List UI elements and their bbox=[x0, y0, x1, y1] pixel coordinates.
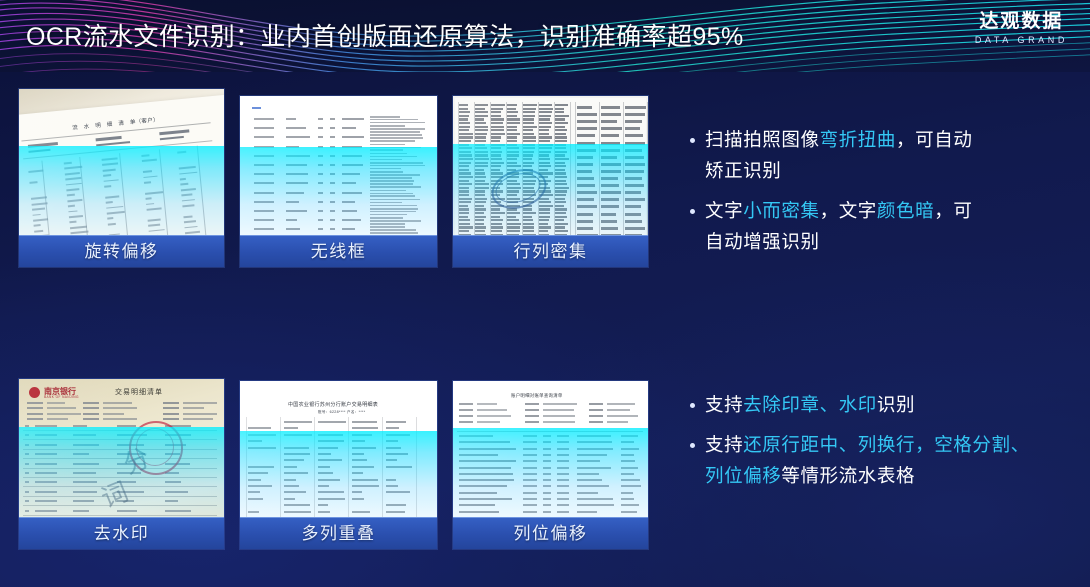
doc-texture-line bbox=[25, 434, 29, 436]
doc-texture-line bbox=[459, 498, 512, 500]
doc-texture-line bbox=[523, 151, 534, 153]
sample-card-column-shift[interactable]: 账户明细对账单查询清单 列位偏移 bbox=[453, 381, 648, 549]
doc-texture-line bbox=[601, 191, 621, 194]
doc-texture-line bbox=[491, 104, 505, 106]
card-caption: 列位偏移 bbox=[453, 517, 648, 549]
doc-texture-line bbox=[35, 425, 57, 427]
doc-texture-line bbox=[35, 500, 57, 502]
sample-card-multi-column-overlap[interactable]: 中国农业银行苏州分行账户交易明细表 账号：6228**** 户名：**** 多列… bbox=[240, 381, 437, 549]
doc-texture-line bbox=[491, 226, 503, 228]
doc-texture-line bbox=[286, 228, 300, 230]
doc-texture-line bbox=[318, 173, 323, 175]
doc-texture-line bbox=[370, 153, 407, 155]
doc-texture-line bbox=[145, 191, 163, 195]
doc-texture-line bbox=[286, 136, 310, 138]
doc-texture-line bbox=[254, 118, 274, 120]
doc-texture-line bbox=[475, 108, 485, 110]
doc-texture-line bbox=[181, 194, 193, 197]
doc-texture-line bbox=[370, 116, 400, 118]
doc-texture-line bbox=[577, 184, 595, 187]
doc-texture-line bbox=[248, 466, 274, 468]
doc-texture-line bbox=[254, 210, 274, 212]
doc-texture-line bbox=[23, 468, 217, 469]
doc-texture-line bbox=[577, 142, 595, 145]
doc-texture-line bbox=[370, 174, 420, 176]
bullet-text: 自动增强识别 bbox=[705, 231, 820, 252]
card-caption: 行列密集 bbox=[453, 235, 648, 267]
doc-texture-line bbox=[539, 118, 550, 120]
doc-texture-line bbox=[342, 219, 361, 221]
doc-texture-line bbox=[370, 226, 405, 228]
doc-texture-line bbox=[183, 215, 192, 218]
doc-texture-line bbox=[145, 197, 151, 199]
doc-texture-line bbox=[601, 177, 618, 180]
doc-texture-line bbox=[475, 162, 488, 164]
doc-texture-line bbox=[475, 226, 486, 228]
doc-texture-line bbox=[318, 511, 330, 513]
doc-texture-line bbox=[475, 129, 488, 131]
doc-texture-line bbox=[475, 158, 489, 160]
doc-texture-line bbox=[507, 104, 517, 106]
sample-card-borderless[interactable]: 无线框 bbox=[240, 96, 437, 267]
doc-texture-line bbox=[342, 164, 363, 166]
doc-texture-line bbox=[318, 182, 323, 184]
doc-texture-line bbox=[555, 172, 566, 174]
doc-texture-line bbox=[330, 146, 335, 148]
doc-texture-line bbox=[27, 418, 43, 420]
doc-texture-line bbox=[370, 211, 416, 213]
doc-texture-line bbox=[183, 402, 217, 404]
doc-texture-line bbox=[32, 208, 45, 211]
doc-texture-line bbox=[459, 165, 469, 167]
doc-texture-line bbox=[539, 169, 548, 171]
doc-texture-line bbox=[577, 205, 597, 208]
doc-texture-line bbox=[73, 453, 89, 455]
doc-texture-line bbox=[523, 230, 534, 232]
doc-texture-line bbox=[318, 491, 344, 493]
doc-texture-line bbox=[318, 219, 323, 221]
doc-texture-line bbox=[83, 413, 99, 415]
bullet-text: 等情形流水表格 bbox=[781, 465, 915, 486]
doc-texture-line bbox=[180, 183, 188, 186]
doc-texture-line bbox=[475, 180, 485, 182]
doc-texture-line bbox=[621, 441, 634, 443]
doc-texture-line bbox=[47, 418, 68, 420]
doc-texture-line bbox=[557, 479, 569, 481]
doc-texture-line bbox=[318, 155, 323, 157]
bullet-highlight-text: 颜色暗 bbox=[877, 200, 934, 221]
doc-texture-line bbox=[477, 415, 511, 417]
doc-texture-line bbox=[625, 163, 645, 166]
doc-texture-line bbox=[370, 128, 425, 130]
doc-texture-line bbox=[523, 216, 532, 218]
doc-texture-line bbox=[318, 164, 323, 166]
doc-texture-line bbox=[370, 134, 422, 136]
doc-texture-line bbox=[284, 447, 309, 449]
doc-texture-line bbox=[330, 219, 335, 221]
doc-texture-line bbox=[555, 144, 566, 146]
doc-texture-line bbox=[370, 190, 406, 192]
bullet-text: ，可 bbox=[934, 200, 972, 221]
doc-texture-line bbox=[459, 198, 472, 200]
doc-texture-line bbox=[23, 515, 217, 516]
doc-texture-line bbox=[318, 466, 330, 468]
doc-texture-line bbox=[555, 219, 564, 221]
doc-texture-line bbox=[386, 453, 408, 455]
doc-texture-line bbox=[491, 133, 505, 135]
slide-header: OCR流水文件识别：业内首创版面还原算法，识别准确率超95% 达观数据 DATA… bbox=[0, 0, 1090, 72]
doc-texture-line bbox=[342, 210, 357, 212]
doc-texture-line bbox=[386, 434, 410, 436]
doc-texture-line bbox=[475, 176, 486, 178]
doc-texture-line bbox=[318, 421, 346, 423]
doc-texture-line bbox=[330, 192, 335, 194]
doc-texture-line bbox=[555, 223, 568, 225]
doc-texture-line bbox=[248, 434, 276, 436]
doc-texture-line bbox=[491, 162, 504, 164]
doc-texture-line bbox=[491, 108, 503, 110]
doc-texture-line bbox=[557, 441, 569, 443]
doc-texture-line bbox=[459, 223, 470, 225]
doc-texture-line bbox=[523, 118, 534, 120]
bullet-highlight-text: 弯折扭曲 bbox=[820, 129, 896, 150]
doc-texture-line bbox=[475, 165, 488, 167]
doc-texture-line bbox=[477, 421, 500, 423]
doc-texture-line bbox=[555, 176, 567, 178]
doc-texture-line bbox=[543, 409, 574, 411]
doc-texture-line bbox=[589, 409, 603, 411]
doc-texture-line bbox=[459, 176, 473, 178]
doc-texture-line bbox=[330, 118, 335, 120]
doc-texture-line bbox=[254, 127, 274, 129]
doc-texture-line bbox=[370, 140, 415, 142]
bullet-text: 矫正识别 bbox=[705, 160, 781, 181]
doc-texture-line bbox=[386, 479, 396, 481]
doc-texture-line bbox=[523, 467, 537, 469]
doc-texture-line bbox=[539, 136, 552, 138]
doc-texture-line bbox=[27, 407, 43, 409]
doc-texture-line bbox=[25, 472, 29, 474]
doc-texture-line bbox=[523, 104, 537, 106]
doc-texture-line bbox=[35, 491, 57, 493]
doc-texture-line bbox=[330, 173, 335, 175]
doc-texture-line bbox=[35, 444, 57, 446]
doc-texture-line bbox=[625, 106, 646, 109]
doc-texture-line bbox=[621, 460, 635, 462]
doc-texture-line bbox=[370, 232, 418, 234]
doc-texture-line bbox=[491, 172, 503, 174]
doc-texture-line bbox=[507, 129, 517, 131]
doc-texture-line bbox=[318, 447, 338, 449]
doc-texture-line bbox=[539, 147, 552, 149]
doc-texture-line bbox=[601, 170, 621, 173]
doc-texture-line bbox=[284, 498, 295, 500]
doc-texture-line bbox=[475, 205, 484, 207]
doc-texture-line bbox=[607, 403, 635, 405]
doc-texture-line bbox=[254, 146, 274, 148]
doc-texture-line bbox=[286, 164, 307, 166]
doc-texture-line bbox=[248, 491, 260, 493]
doc-texture-line bbox=[386, 427, 399, 429]
doc-texture-line bbox=[284, 479, 296, 481]
doc-texture-line bbox=[507, 165, 521, 167]
doc-texture-line bbox=[330, 127, 335, 129]
doc-texture-line bbox=[25, 463, 29, 465]
doc-texture-line bbox=[33, 214, 41, 217]
doc-texture-line bbox=[523, 504, 537, 506]
doc-texture-line bbox=[523, 111, 535, 113]
doc-texture-line bbox=[284, 511, 311, 513]
feature-bullet: 文字小而密集，文字颜色暗，可自动增强识别 bbox=[688, 195, 1060, 257]
logo-chinese-name: 达观数据 bbox=[975, 11, 1068, 33]
doc-texture-line bbox=[475, 212, 484, 214]
doc-texture-line bbox=[555, 133, 566, 135]
doc-texture-line bbox=[621, 448, 639, 450]
doc-texture-line bbox=[254, 228, 274, 230]
doc-texture-line bbox=[254, 182, 274, 184]
sample-card-dense-grid[interactable]: 行列密集 bbox=[453, 96, 648, 267]
doc-texture-line bbox=[557, 485, 569, 487]
doc-texture-line bbox=[459, 118, 468, 120]
doc-texture-line bbox=[459, 403, 473, 405]
doc-texture-line bbox=[318, 201, 323, 203]
doc-texture-line bbox=[523, 136, 536, 138]
doc-texture-line bbox=[491, 140, 500, 142]
doc-texture-line bbox=[254, 164, 274, 166]
sample-card-rotation-offset[interactable]: 流 水 明 细 清 单（客户） 旋转偏移 bbox=[19, 89, 224, 267]
doc-texture-line bbox=[555, 205, 564, 207]
bullet-line-2: 矫正识别 bbox=[705, 155, 1060, 186]
doc-texture-line bbox=[370, 159, 402, 161]
doc-texture-line bbox=[286, 182, 308, 184]
doc-texture-line bbox=[183, 407, 204, 409]
doc-texture-line bbox=[523, 122, 534, 124]
doc-texture-line bbox=[555, 169, 565, 171]
doc-texture-line bbox=[523, 454, 537, 456]
doc-texture-line bbox=[342, 201, 355, 203]
doc-texture-line bbox=[577, 454, 607, 456]
doc-texture-line bbox=[352, 453, 364, 455]
doc-texture-line bbox=[103, 418, 137, 420]
doc-texture-line bbox=[491, 122, 503, 124]
doc-texture-line bbox=[34, 224, 41, 227]
doc-texture-line bbox=[507, 126, 517, 128]
doc-texture-line bbox=[507, 162, 517, 164]
doc-texture-line bbox=[491, 208, 500, 210]
doc-texture-line bbox=[491, 154, 501, 156]
doc-texture-line bbox=[577, 156, 593, 159]
doc-texture-line bbox=[342, 136, 364, 138]
doc-texture-line bbox=[475, 201, 486, 203]
doc-texture-line bbox=[184, 226, 197, 229]
doc-texture-line bbox=[539, 129, 549, 131]
doc-texture-line bbox=[25, 425, 29, 427]
doc-texture-line bbox=[625, 156, 644, 159]
sample-card-remove-watermark[interactable]: 南京银行 BANK OF NANJING 交易明细清单 分 词 去水印 bbox=[19, 379, 224, 549]
feature-list-top: 扫描拍照图像弯折扭曲，可自动矫正识别文字小而密集，文字颜色暗，可自动增强识别 bbox=[688, 124, 1060, 266]
feature-bullet: 支持还原行距中、列换行，空格分割、列位偏移等情形流水表格 bbox=[688, 429, 1066, 491]
doc-texture-line bbox=[248, 447, 276, 449]
doc-texture-line bbox=[507, 158, 517, 160]
bullet-text: ，文字 bbox=[820, 200, 877, 221]
doc-texture-line bbox=[555, 194, 566, 196]
doc-texture-line bbox=[621, 467, 638, 469]
doc-texture-line bbox=[577, 120, 597, 123]
doc-texture-line bbox=[459, 441, 510, 443]
doc-texture-line bbox=[286, 155, 310, 157]
doc-texture-line bbox=[607, 415, 638, 417]
doc-texture-line bbox=[525, 409, 539, 411]
doc-texture-line bbox=[523, 208, 532, 210]
doc-texture-line bbox=[459, 454, 498, 456]
doc-texture-line bbox=[555, 129, 567, 131]
doc-texture-line bbox=[318, 453, 331, 455]
doc-texture-line bbox=[370, 119, 418, 121]
doc-texture-line bbox=[601, 227, 618, 230]
doc-texture-line bbox=[64, 166, 82, 170]
doc-texture-line bbox=[555, 190, 567, 192]
bullet-text: 支持 bbox=[705, 434, 743, 455]
doc-texture-line bbox=[621, 473, 634, 475]
doc-texture-line bbox=[577, 106, 592, 109]
doc-texture-line bbox=[254, 192, 274, 194]
doc-texture-line bbox=[601, 213, 616, 216]
doc-texture-line bbox=[105, 195, 119, 198]
doc-texture-line bbox=[523, 473, 537, 475]
doc-texture-line bbox=[523, 147, 535, 149]
doc-texture-line bbox=[286, 219, 297, 221]
doc-texture-line bbox=[525, 421, 539, 423]
doc-texture-line bbox=[25, 444, 29, 446]
doc-texture-line bbox=[555, 187, 569, 189]
doc-texture-line bbox=[352, 472, 363, 474]
doc-texture-line bbox=[625, 184, 644, 187]
doc-texture-line bbox=[475, 169, 484, 171]
doc-texture-line bbox=[525, 403, 539, 405]
doc-texture-line bbox=[539, 151, 551, 153]
doc-texture-line bbox=[491, 212, 505, 214]
doc-texture-line bbox=[543, 479, 551, 481]
doc-texture-line bbox=[523, 154, 533, 156]
doc-texture-line bbox=[523, 133, 534, 135]
brand-logo: 达观数据 DATA GRAND bbox=[975, 11, 1068, 47]
doc-texture-line bbox=[507, 140, 517, 142]
doc-texture-line bbox=[555, 147, 566, 149]
bullet-line: 扫描拍照图像弯折扭曲，可自动 bbox=[705, 124, 1060, 155]
doc-texture-line bbox=[491, 169, 500, 171]
doc-texture-line bbox=[182, 199, 195, 202]
doc-texture-line bbox=[352, 479, 378, 481]
doc-texture-line bbox=[148, 224, 160, 227]
doc-texture-line bbox=[146, 203, 154, 206]
doc-texture-line bbox=[386, 447, 401, 449]
doc-texture-line bbox=[73, 444, 99, 446]
doc-texture-line bbox=[543, 467, 551, 469]
doc-texture-line bbox=[475, 147, 487, 149]
doc-texture-line bbox=[286, 118, 296, 120]
doc-texture-line bbox=[459, 212, 469, 214]
doc-texture-line bbox=[370, 214, 407, 216]
doc-texture-line bbox=[577, 448, 613, 450]
doc-texture-line bbox=[68, 205, 75, 208]
doc-texture-line bbox=[523, 448, 537, 450]
doc-texture-line bbox=[459, 183, 472, 185]
doc-texture-line bbox=[23, 439, 217, 440]
doc-texture-line bbox=[165, 500, 178, 502]
doc-texture-line bbox=[625, 120, 642, 123]
doc-texture-line bbox=[577, 191, 597, 194]
bullet-line-2: 列位偏移等情形流水表格 bbox=[705, 460, 1066, 491]
doc-texture-line bbox=[539, 230, 548, 232]
doc-texture-line bbox=[525, 415, 539, 417]
doc-texture-line bbox=[284, 421, 312, 423]
doc-texture-line bbox=[330, 210, 335, 212]
doc-texture-line bbox=[625, 227, 645, 230]
doc-texture-line bbox=[577, 213, 593, 216]
doc-texture-line bbox=[248, 485, 272, 487]
bullet-highlight-text: 还原行距中、列换行，空格分割、 bbox=[743, 434, 1030, 455]
doc-texture-line bbox=[342, 192, 362, 194]
doc-texture-line bbox=[143, 170, 152, 173]
doc-texture-line bbox=[475, 219, 484, 221]
doc-texture-line bbox=[459, 111, 470, 113]
doc-texture-line bbox=[73, 472, 96, 474]
doc-texture-line bbox=[342, 127, 356, 129]
doc-texture-line bbox=[523, 498, 537, 500]
doc-texture-line bbox=[555, 126, 565, 128]
doc-texture-line bbox=[163, 407, 179, 409]
doc-texture-line bbox=[370, 193, 413, 195]
doc-texture-line bbox=[539, 111, 552, 113]
doc-texture-line bbox=[601, 142, 620, 145]
doc-texture-line bbox=[69, 221, 76, 224]
doc-texture-line bbox=[386, 511, 405, 513]
doc-texture-line bbox=[577, 198, 594, 201]
doc-texture-line bbox=[459, 190, 469, 192]
doc-texture-line bbox=[555, 208, 567, 210]
doc-texture-line bbox=[370, 144, 405, 146]
doc-texture-line bbox=[491, 118, 504, 120]
doc-texture-line bbox=[35, 510, 57, 512]
doc-texture-line bbox=[523, 158, 532, 160]
doc-texture-line bbox=[459, 162, 471, 164]
doc-texture-line bbox=[248, 498, 263, 500]
doc-texture-line bbox=[73, 481, 97, 483]
doc-texture-line bbox=[165, 481, 181, 483]
doc-texture-line bbox=[182, 204, 194, 207]
doc-texture-line bbox=[352, 466, 374, 468]
doc-texture-line bbox=[386, 459, 397, 461]
doc-texture-line bbox=[459, 435, 493, 437]
doc-texture-line bbox=[523, 223, 534, 225]
doc-texture-line bbox=[625, 170, 644, 173]
doc-texture-line bbox=[491, 219, 503, 221]
bullet-highlight-text: 列位偏移 bbox=[705, 465, 781, 486]
doc-texture-line bbox=[254, 173, 274, 175]
doc-texture-line bbox=[177, 151, 186, 154]
doc-texture-line bbox=[539, 104, 552, 106]
doc-texture-line bbox=[523, 492, 537, 494]
doc-texture-line bbox=[457, 431, 643, 432]
doc-texture-line bbox=[601, 134, 619, 137]
doc-texture-line bbox=[25, 491, 29, 493]
doc-texture-line bbox=[459, 158, 473, 160]
doc-texture-line bbox=[370, 195, 415, 197]
doc-texture-line bbox=[352, 485, 379, 487]
doc-texture-line bbox=[370, 208, 418, 210]
doc-texture-line bbox=[475, 133, 487, 135]
doc-texture-line bbox=[65, 177, 81, 180]
